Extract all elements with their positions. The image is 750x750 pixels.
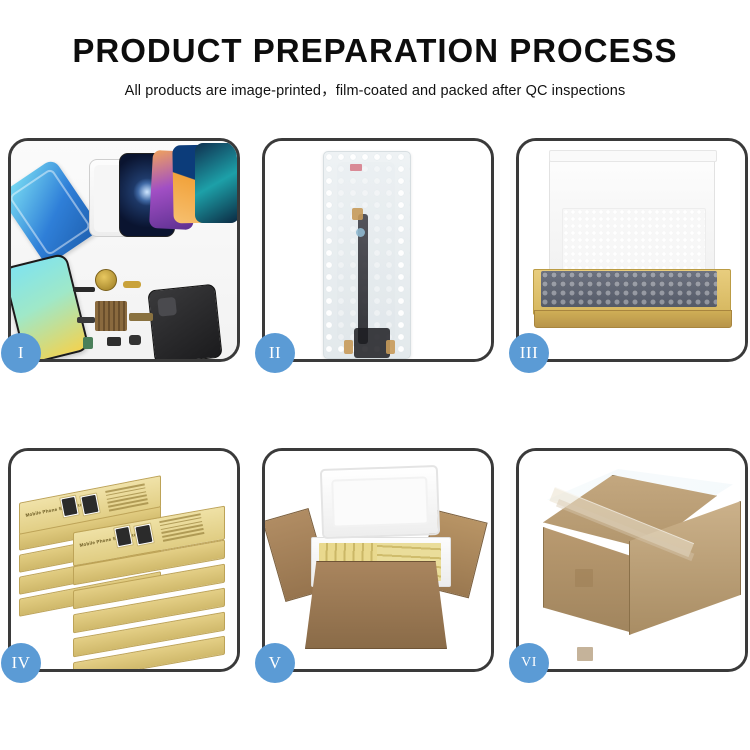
step-5-image — [265, 451, 491, 669]
step-2-image — [265, 141, 491, 359]
part-chip-icon — [73, 287, 95, 292]
part-chip-icon — [107, 337, 121, 346]
process-step-card-4[interactable]: Mobile Phone Spare Parts Mobile Phone Sp… — [8, 448, 240, 672]
carton-tab-icon — [575, 569, 593, 587]
process-step-card-1[interactable]: I — [8, 138, 240, 362]
phone-back-housing-icon — [147, 284, 222, 359]
contact-pad-icon — [344, 340, 353, 354]
step-3-image — [519, 141, 745, 359]
step-badge-4: IV — [1, 643, 41, 683]
bubble-wrapped-contents-icon — [541, 271, 717, 307]
logic-board-icon — [95, 301, 127, 331]
part-chip-icon — [83, 337, 93, 349]
box-lid-icon — [549, 155, 715, 277]
process-step-card-5[interactable]: V — [262, 448, 494, 672]
process-step-card-3[interactable]: III — [516, 138, 748, 362]
part-chip-icon — [123, 281, 141, 288]
bubble-wrap-icon — [323, 151, 411, 359]
carton-tab-icon — [577, 647, 593, 661]
box-print-screen-icon — [79, 492, 101, 516]
part-chip-icon — [77, 317, 95, 323]
process-step-card-6[interactable]: VI — [516, 448, 748, 672]
speaker-coil-icon — [95, 269, 117, 291]
carton-body-icon — [305, 561, 447, 649]
styrofoam-lid-icon — [320, 465, 440, 539]
step-badge-1: I — [1, 333, 41, 373]
process-step-card-2[interactable]: II — [262, 138, 494, 362]
step-1-image — [11, 141, 237, 359]
page-subtitle: All products are image-printed，film-coat… — [0, 79, 750, 100]
step-badge-3: III — [509, 333, 549, 373]
product-preparation-process-page: PRODUCT PREPARATION PROCESS All products… — [0, 0, 750, 750]
connector-block-icon — [354, 328, 390, 358]
blue-screen-protector-icon — [11, 158, 101, 266]
step-4-image: Mobile Phone Spare Parts Mobile Phone Sp… — [11, 451, 237, 669]
box-stack: Mobile Phone Spare Parts Mobile Phone Sp… — [15, 467, 237, 659]
part-chip-icon — [129, 335, 141, 345]
contact-pad-icon — [352, 208, 363, 220]
header: PRODUCT PREPARATION PROCESS All products… — [0, 0, 750, 100]
part-chip-icon — [129, 313, 153, 321]
step-badge-2: II — [255, 333, 295, 373]
camera-module-icon — [356, 228, 365, 237]
step-6-image — [519, 451, 745, 669]
box-print-screen-icon — [133, 522, 155, 546]
page-title: PRODUCT PREPARATION PROCESS — [0, 34, 750, 67]
contact-pad-icon — [386, 340, 395, 354]
process-step-grid: I II — [8, 138, 742, 672]
step-badge-5: V — [255, 643, 295, 683]
phone-teal-icon — [195, 143, 237, 223]
step-badge-6: VI — [509, 643, 549, 683]
qc-sticker-icon — [350, 164, 362, 171]
